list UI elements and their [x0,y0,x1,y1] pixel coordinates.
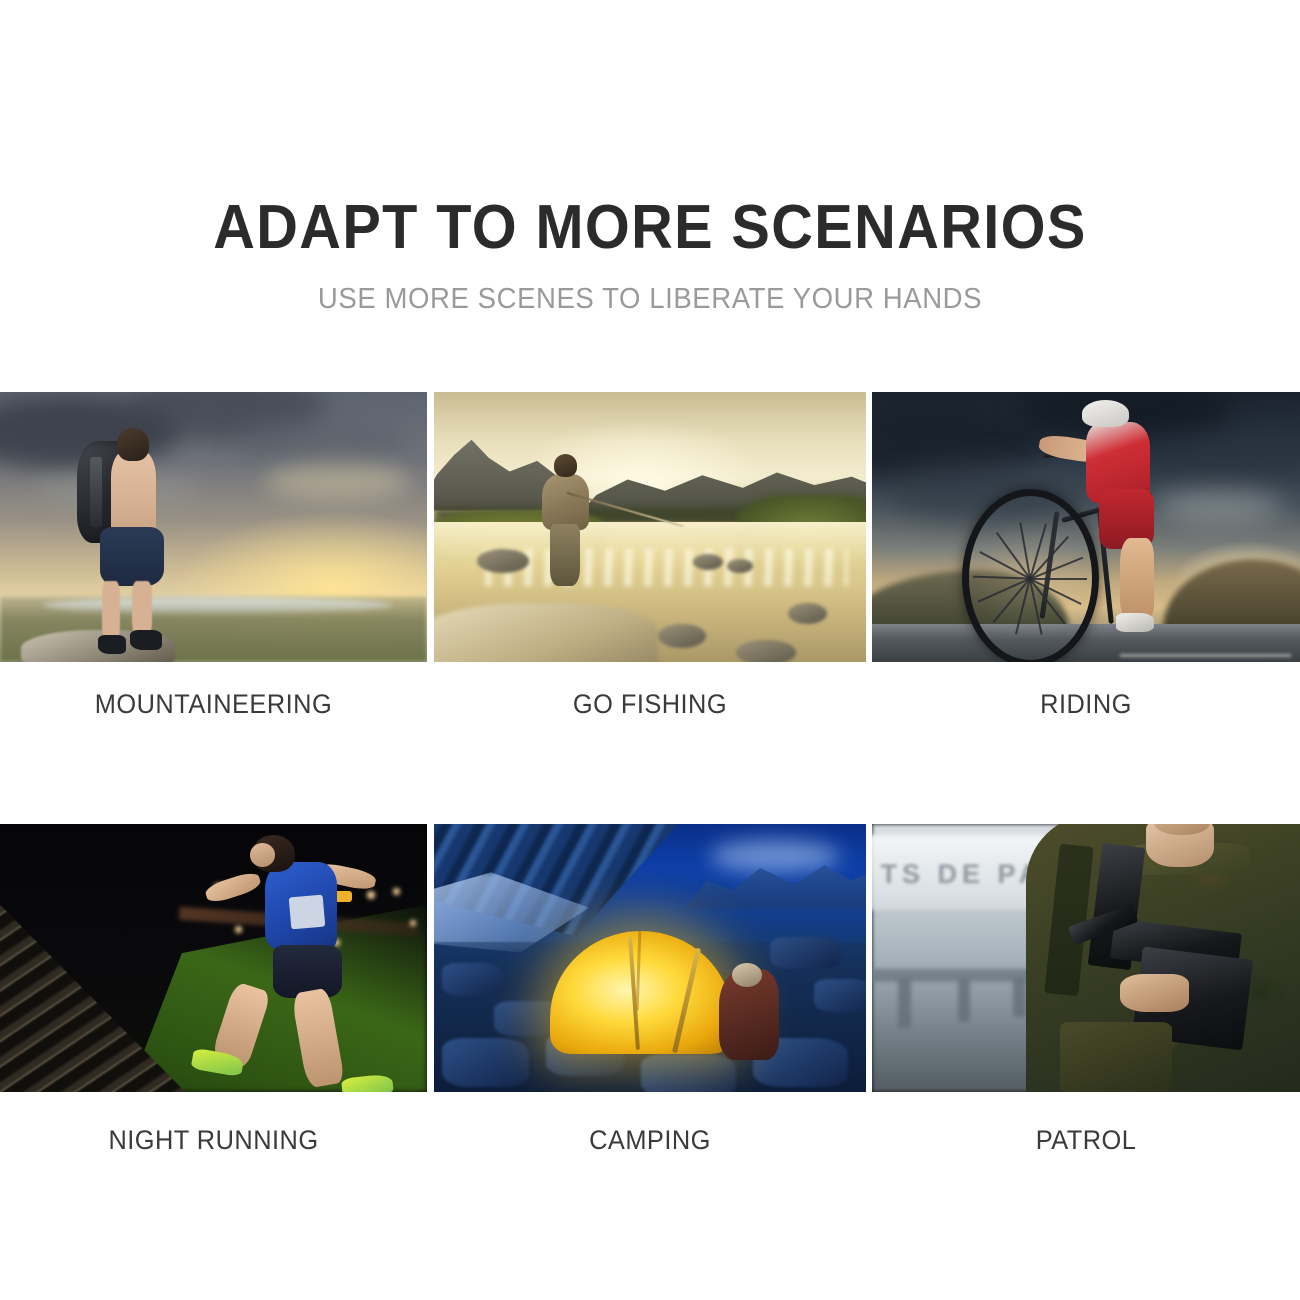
scenario-card-go-fishing[interactable]: GO FISHING [434,392,866,720]
scenario-card-night-running[interactable]: NIGHT RUNNING [0,824,427,1156]
scenario-caption-patrol: PATROL [885,1124,1287,1156]
scenario-card-riding[interactable]: RIDING [872,392,1300,720]
scenario-image-camping [434,824,866,1092]
page-title: ADAPT TO MORE SCENARIOS [46,193,1255,263]
page-subtitle: USE MORE SCENES TO LIBERATE YOUR HANDS [33,282,1268,316]
background-banner-text: TS DE PA [881,859,1044,890]
scenario-image-mountaineering [0,392,427,662]
scenario-image-riding [872,392,1300,662]
scenario-card-patrol[interactable]: TS DE PA PATROL [872,824,1300,1156]
scenario-caption-mountaineering: MOUNTAINEERING [13,688,414,720]
scenario-card-mountaineering[interactable]: MOUNTAINEERING [0,392,427,720]
scenario-image-patrol: TS DE PA [872,824,1300,1092]
promo-page: ADAPT TO MORE SCENARIOS USE MORE SCENES … [0,0,1300,1300]
header: ADAPT TO MORE SCENARIOS USE MORE SCENES … [0,0,1300,316]
scenario-caption-riding: RIDING [885,688,1287,720]
scenario-image-night-running [0,824,427,1092]
scenario-card-camping[interactable]: CAMPING [434,824,866,1156]
scenario-image-go-fishing [434,392,866,662]
scenario-grid: MOUNTAINEERING [0,392,1300,1156]
scenario-caption-go-fishing: GO FISHING [446,688,852,720]
scenario-caption-camping: CAMPING [446,1124,852,1156]
scenario-caption-night-running: NIGHT RUNNING [13,1124,414,1156]
